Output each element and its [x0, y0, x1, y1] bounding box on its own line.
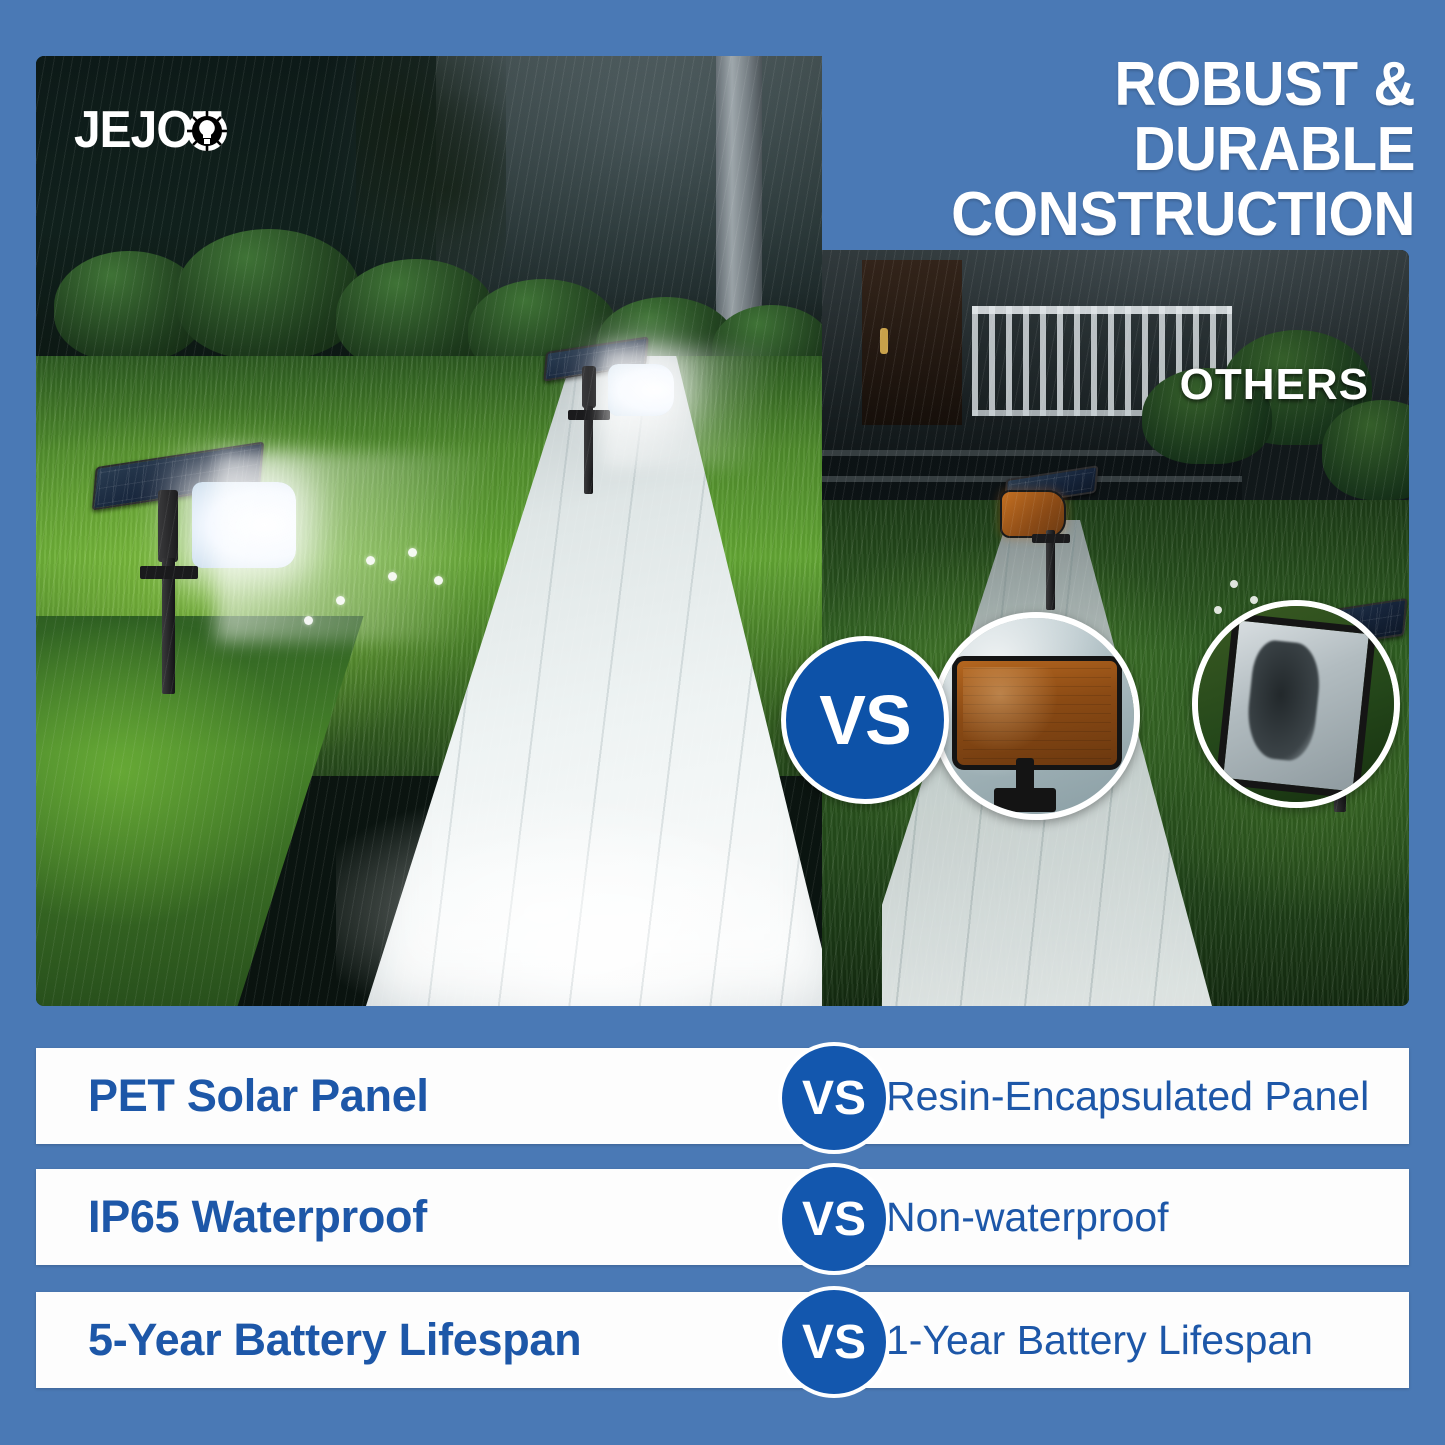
vs-badge-row-1: VS	[778, 1042, 890, 1154]
flower	[1250, 596, 1258, 604]
wet-pavement-sheen	[336, 696, 822, 1006]
photo-others: OTHERS	[822, 250, 1409, 1006]
sun-bulb-icon	[184, 108, 230, 154]
brand-logo: JEJOT	[74, 100, 234, 160]
lamp-arm	[582, 366, 596, 408]
lamp-head-amber	[1000, 490, 1066, 538]
stake-plate	[140, 566, 198, 579]
door-handle	[880, 328, 888, 354]
vs-badge-hero: VS	[781, 636, 949, 804]
theirs-feature-1: Resin-Encapsulated Panel	[886, 1048, 1369, 1144]
infographic-canvas: ROBUST & DURABLE CONSTRUCTION	[0, 0, 1445, 1445]
shrub	[176, 229, 361, 359]
ours-feature-3: 5-Year Battery Lifespan	[88, 1292, 581, 1388]
comparison-row-2: IP65 Waterproof VS Non-waterproof	[36, 1169, 1409, 1265]
ours-feature-1: PET Solar Panel	[88, 1048, 429, 1144]
vs-badge-row-2: VS	[778, 1163, 890, 1275]
hero-comparison-image: JEJOT	[36, 56, 1409, 1006]
theirs-feature-2: Non-waterproof	[886, 1169, 1169, 1265]
corroded-amber-lamp-inset	[932, 612, 1140, 820]
comparison-row-3: 5-Year Battery Lifespan VS 1-Year Batter…	[36, 1292, 1409, 1388]
lamp-arm	[158, 490, 178, 562]
front-door	[862, 260, 962, 425]
degraded-solar-panel-inset	[1192, 600, 1400, 808]
others-label: OTHERS	[1180, 360, 1369, 410]
photo-ours: JEJOT	[36, 56, 822, 1006]
flower	[1230, 580, 1238, 588]
theirs-feature-3: 1-Year Battery Lifespan	[886, 1292, 1313, 1388]
ours-feature-2: IP65 Waterproof	[88, 1169, 427, 1265]
lamp-head-lit	[608, 364, 674, 416]
vs-badge-row-3: VS	[778, 1286, 890, 1398]
stake-plate	[1032, 534, 1070, 543]
stake-plate	[568, 410, 610, 420]
comparison-row-1: PET Solar Panel VS Resin-Encapsulated Pa…	[36, 1048, 1409, 1144]
lamp-head-lit	[192, 482, 296, 568]
